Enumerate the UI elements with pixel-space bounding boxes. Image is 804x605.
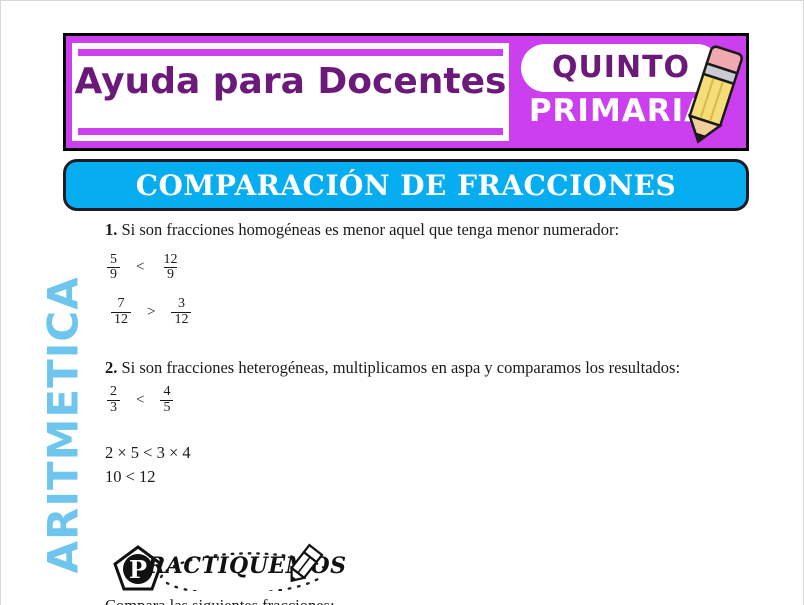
- numerator: 7: [115, 297, 128, 312]
- brand-banner: Ayuda para Docentes QUINTO PRIMARIA: [63, 33, 749, 151]
- fraction-right: 4 5: [158, 385, 175, 415]
- fraction-left: 5 9: [105, 253, 122, 283]
- site-title: Ayuda para Docentes: [72, 61, 509, 102]
- denominator: 12: [171, 312, 191, 328]
- fraction-right: 3 12: [169, 297, 193, 327]
- fraction-left: 7 12: [109, 297, 133, 327]
- denominator: 9: [107, 267, 120, 283]
- clipped-bottom-line: Compara las siguientes fracciones:: [105, 596, 705, 605]
- topic-title: COMPARACIÓN DE FRACCIONES: [136, 169, 676, 202]
- numerator: 5: [107, 253, 120, 268]
- rule-2-number: 2.: [105, 358, 117, 377]
- lesson-body: 1. Si son fracciones homogéneas es menor…: [105, 217, 707, 489]
- rule-1-paragraph: 1. Si son fracciones homogéneas es menor…: [105, 217, 707, 243]
- numerator: 4: [160, 385, 173, 400]
- pencil-icon: [682, 40, 744, 152]
- practice-heading: P RACTIQUEMOS: [113, 543, 373, 591]
- comparison-operator: <: [136, 392, 144, 409]
- pencil-icon: [283, 543, 325, 587]
- practice-logo-letter: P: [129, 555, 147, 584]
- worksheet-page: ARITMETICA Ayuda para Docentes QUINTO PR…: [0, 0, 804, 605]
- denominator: 3: [107, 400, 120, 416]
- comparison-operator: <: [136, 259, 144, 276]
- rule-2-text: Si son fracciones heterogéneas, multipli…: [122, 358, 681, 377]
- comparison-operator: >: [147, 304, 155, 321]
- rule-2-example-1: 2 3 < 4 5: [105, 385, 707, 415]
- brand-rule-bottom: [78, 128, 503, 135]
- calculation-line-2: 10 < 12: [105, 465, 707, 489]
- calculation-line-1: 2 × 5 < 3 × 4: [105, 441, 707, 465]
- subject-label: ARITMETICA: [39, 214, 88, 574]
- numerator: 3: [175, 297, 188, 312]
- topic-bar: COMPARACIÓN DE FRACCIONES: [63, 159, 749, 211]
- rule-1-text: Si son fracciones homogéneas es menor aq…: [122, 220, 620, 239]
- numerator: 2: [107, 385, 120, 400]
- fraction-right: 12 9: [158, 253, 182, 283]
- numerator: 12: [160, 253, 180, 268]
- subject-rail: ARITMETICA: [1, 206, 71, 576]
- brand-title-box: Ayuda para Docentes: [72, 43, 509, 141]
- rule-1-example-2: 7 12 > 3 12: [109, 297, 707, 327]
- denominator: 5: [160, 400, 173, 416]
- grade-label: QUINTO: [552, 53, 690, 83]
- denominator: 12: [111, 312, 131, 328]
- rule-1-example-1: 5 9 < 12 9: [105, 253, 707, 283]
- rule-2-paragraph: 2. Si son fracciones heterogéneas, multi…: [105, 355, 707, 381]
- fraction-left: 2 3: [105, 385, 122, 415]
- rule-1-number: 1.: [105, 220, 117, 239]
- denominator: 9: [164, 267, 177, 283]
- brand-rule-top: [78, 49, 503, 56]
